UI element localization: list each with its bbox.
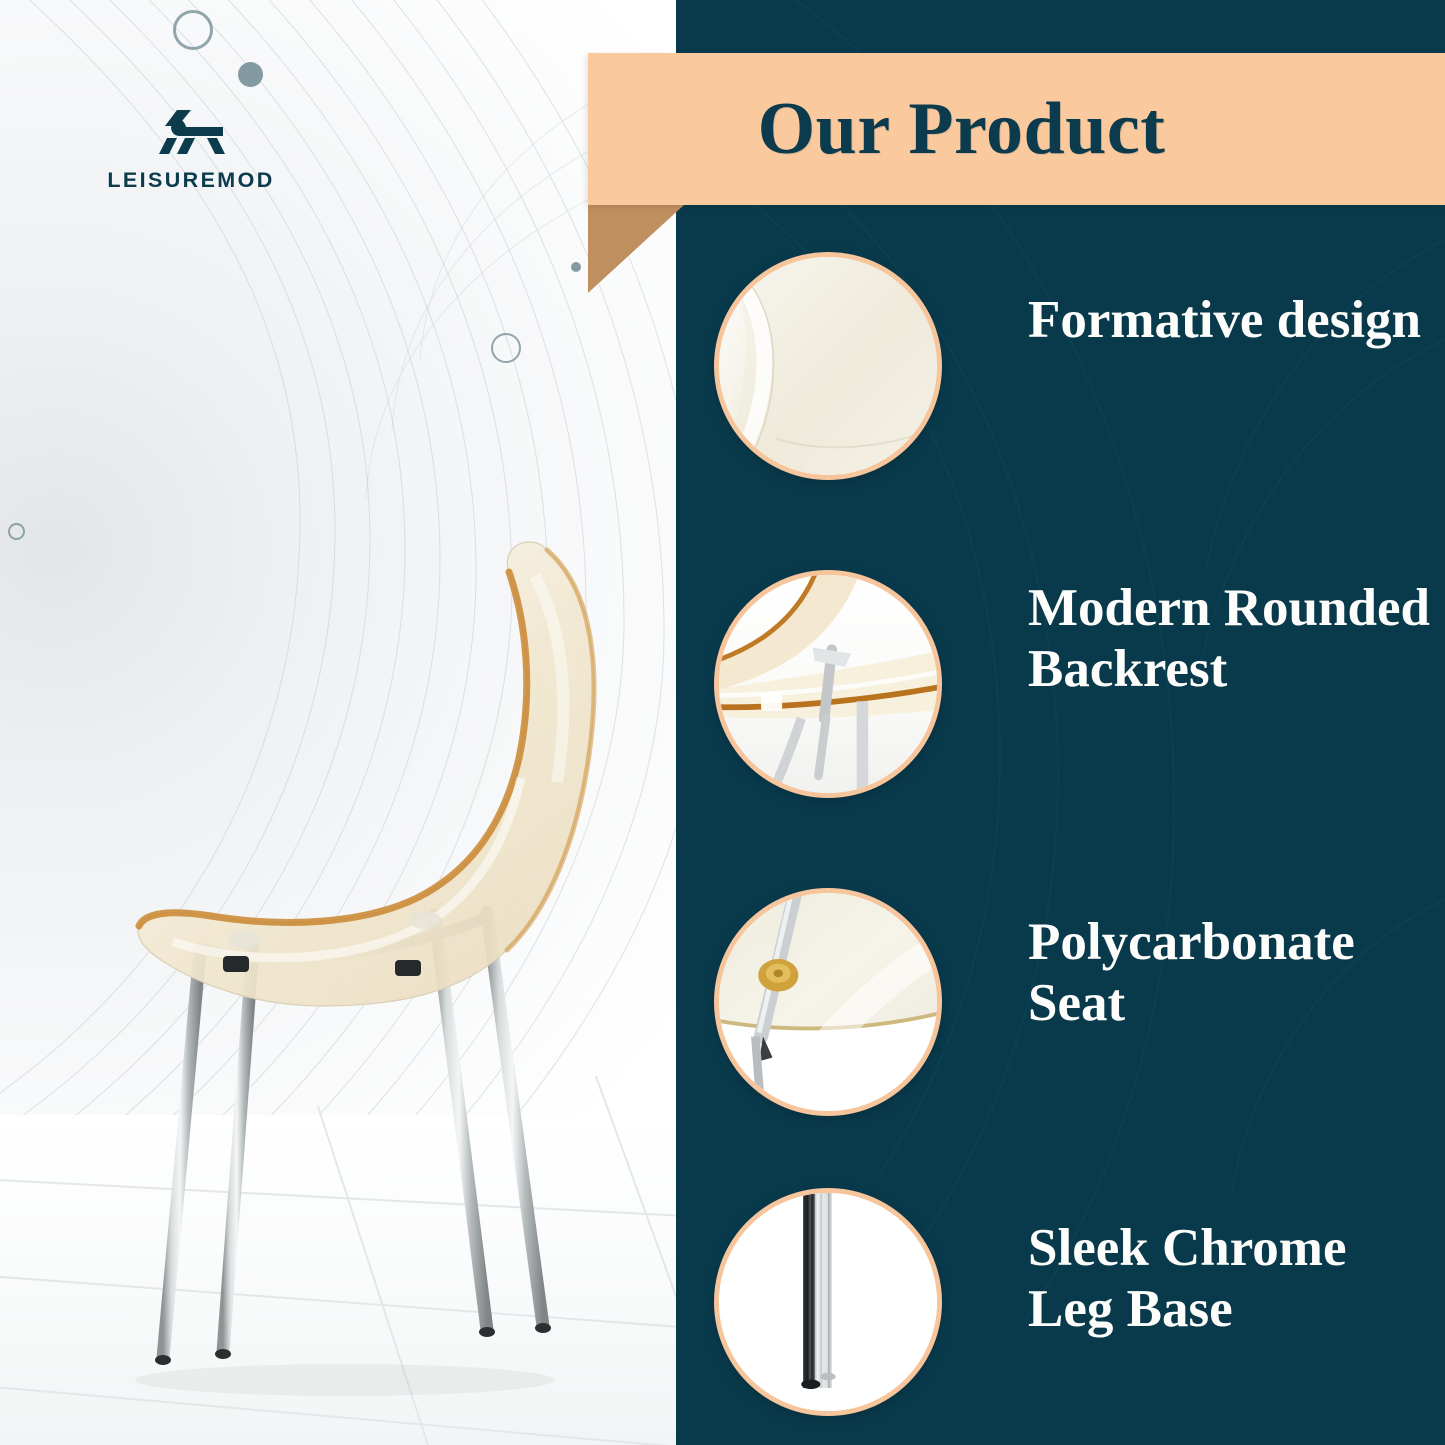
decorative-dot-large bbox=[238, 62, 263, 87]
feature-label-4: Sleek Chrome Leg Base bbox=[1028, 1218, 1440, 1341]
feature-label-3: Polycarbonate Seat bbox=[1028, 912, 1440, 1035]
lounge-chair-icon bbox=[147, 104, 235, 160]
decorative-ring-small bbox=[8, 523, 25, 540]
brand-name: LEISUREMOD bbox=[96, 168, 286, 193]
feature-label-2: Modern Rounded Backrest bbox=[1028, 578, 1440, 701]
formative-design-image bbox=[719, 257, 937, 475]
chrome-leg-image bbox=[719, 1193, 937, 1411]
infographic-canvas: LEISUREMOD Our Product bbox=[0, 0, 1445, 1445]
decorative-ring-large bbox=[173, 10, 213, 50]
rounded-backrest-image bbox=[719, 575, 937, 793]
brand-logo: LEISUREMOD bbox=[96, 104, 286, 193]
decorative-ring-medium bbox=[491, 333, 521, 363]
thumb-chrome-leg[interactable] bbox=[714, 1188, 942, 1416]
product-image-panel: LEISUREMOD bbox=[0, 0, 680, 1445]
feature-list: Formative design bbox=[676, 0, 1445, 1445]
feature-label-1: Formative design bbox=[1028, 290, 1440, 351]
chair-shell bbox=[138, 542, 594, 1006]
polycarbonate-seat-image bbox=[719, 893, 937, 1111]
banner-fold-shadow bbox=[588, 205, 684, 293]
thumb-polycarbonate-seat[interactable] bbox=[714, 888, 942, 1116]
decorative-dot-small bbox=[571, 262, 581, 272]
product-chair-image bbox=[95, 520, 675, 1420]
thumb-formative-design[interactable] bbox=[714, 252, 942, 480]
thumb-rounded-backrest[interactable] bbox=[714, 570, 942, 798]
